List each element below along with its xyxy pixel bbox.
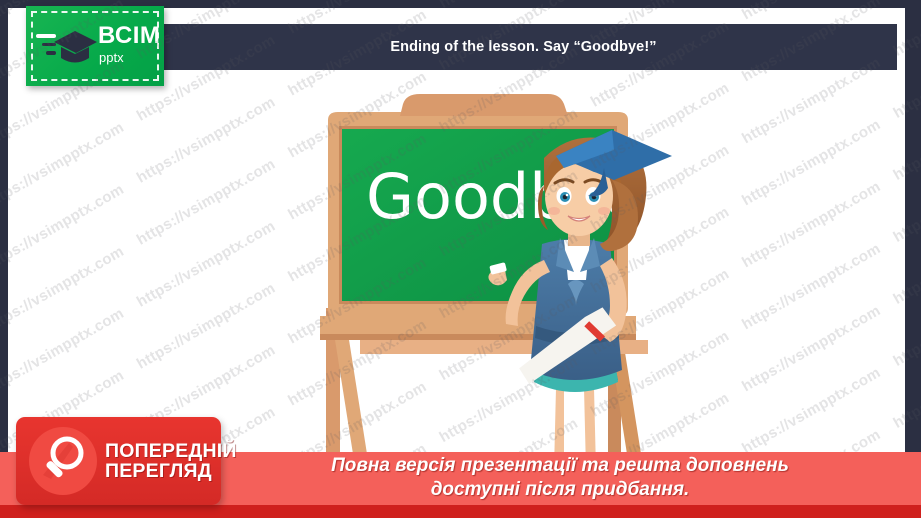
logo-wordmark: ВСІМ pptx [98,24,160,64]
slide-canvas: Goodbye [0,0,921,518]
slide-header-bar: Ending of the lesson. Say “Goodbye!” [150,24,897,70]
preview-badge[interactable]: ПОПЕРЕДНІЙ ПЕРЕГЛЯД [16,417,221,505]
graduation-cap-icon [52,28,98,66]
preview-badge-line-1: ПОПЕРЕДНІЙ [105,441,237,461]
preview-badge-line-2: ПЕРЕГЛЯД [105,461,237,481]
magnifier-icon [29,427,97,495]
banner-accent-strip [0,505,921,518]
page-title: Ending of the lesson. Say “Goodbye!” [390,39,656,55]
logo-name: ВСІМ [98,24,160,48]
banner-line-1: Повна версія презентації та решта доповн… [240,454,880,478]
logo-subtitle: pptx [99,51,160,64]
banner-line-2: доступні після придбання. [240,478,880,502]
preview-badge-label: ПОПЕРЕДНІЙ ПЕРЕГЛЯД [105,441,237,481]
vsim-pptx-logo: ВСІМ pptx [26,6,164,86]
banner-message: Повна версія презентації та решта доповн… [240,454,880,503]
